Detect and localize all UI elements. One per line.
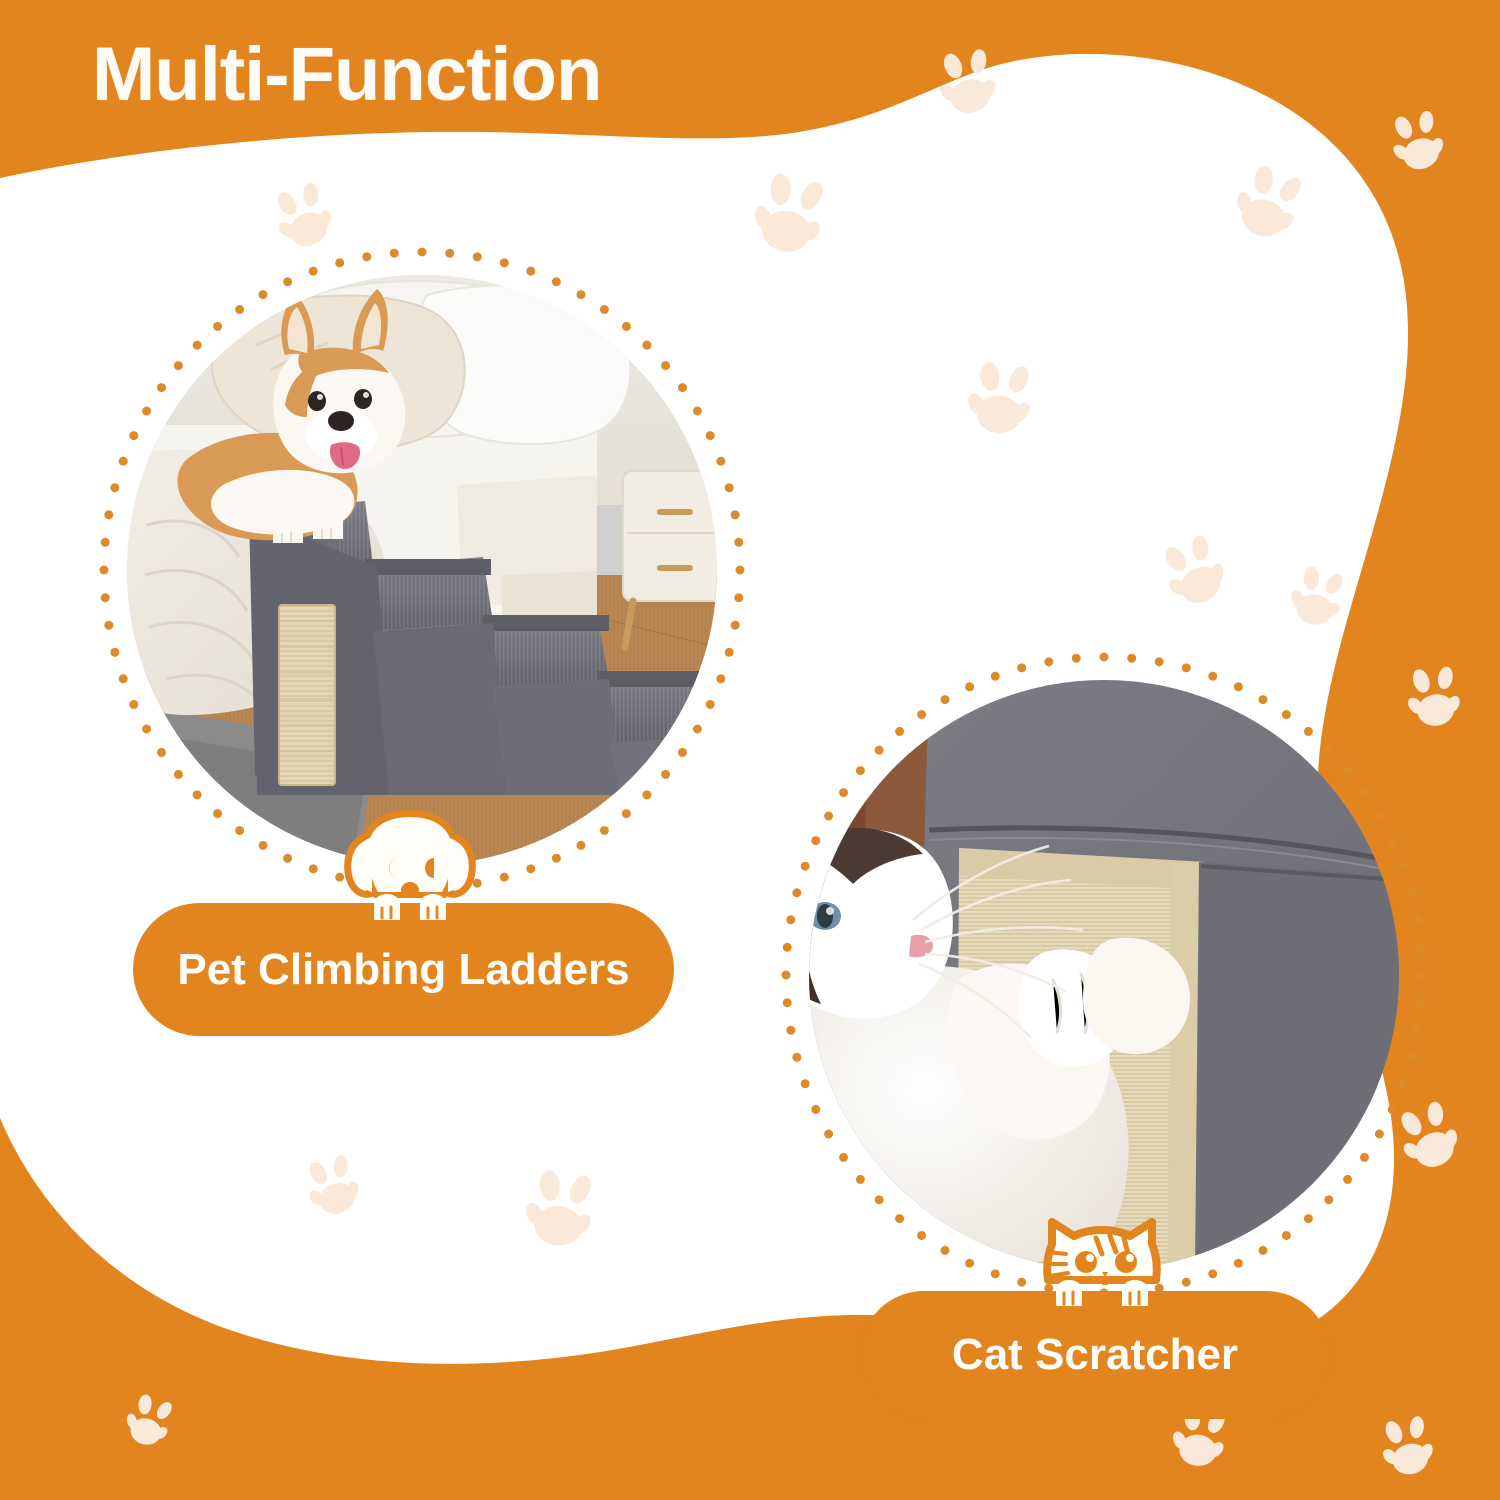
ring-dot [895,727,904,736]
ring-dot [622,322,631,331]
ring-dot [731,510,740,519]
photo-cat-scratcher [809,680,1399,1270]
ring-dot [500,258,509,267]
ring-dot [577,290,586,299]
ring-dot [792,1053,801,1062]
page-title: Multi-Function [92,33,601,117]
ring-dot [839,788,848,797]
ring-dot [801,862,810,871]
ring-dot [792,888,801,897]
ring-dot [1282,1231,1291,1240]
ring-dot [811,836,820,845]
ring-dot [119,674,128,683]
ring-dot [1388,1105,1397,1114]
ring-dot [642,790,651,799]
ring-dot [157,383,166,392]
ring-dot [335,258,344,267]
ring-dot [1304,727,1313,736]
ring-dot [1398,862,1407,871]
ring-dot [1324,746,1333,755]
ring-dot [1182,1278,1191,1287]
ring-dot [1208,672,1217,681]
ring-dot [716,674,725,683]
ring-dot [157,748,166,757]
ring-dot [991,1269,1000,1278]
ring-dot [600,305,609,314]
ring-dot [678,383,687,392]
ring-dot [991,672,1000,681]
ring-dot [856,1175,865,1184]
ring-dot [142,407,151,416]
ring-dot [526,267,535,276]
ring-dot [642,341,651,350]
ring-dot [1375,1130,1384,1139]
ring-dot [1259,695,1268,704]
ring-dot [193,790,202,799]
paw-print-icon [1223,157,1312,249]
ring-dot [824,812,833,821]
ring-dot [1234,682,1243,691]
ring-dot [1259,1246,1268,1255]
ring-dot [1017,663,1026,672]
ring-dot [526,864,535,873]
paw-print-icon [1374,1412,1439,1480]
ring-dot [693,725,702,734]
ring-dot [1182,663,1191,672]
ring-dot [174,361,183,370]
ring-dot [875,1195,884,1204]
ring-dot [965,1259,974,1268]
ring-dot [129,700,138,709]
ring-dot [1416,998,1425,1007]
ring-dot [213,809,222,818]
paw-print-icon [298,1150,367,1222]
ring-dot [1407,888,1416,897]
ring-dot [706,700,715,709]
ring-dot [1398,1079,1407,1088]
ring-dot [678,748,687,757]
ring-dot [362,252,371,261]
ring-dot [259,290,268,299]
ring-dot [941,1246,950,1255]
ring-dot [786,915,795,924]
ring-dot [661,770,670,779]
ring-dot [1388,836,1397,845]
ring-dot [110,648,119,657]
ring-dot [1418,971,1427,980]
ring-dot [129,431,138,440]
ring-dot [309,267,318,276]
ring-dot [706,431,715,440]
ring-dot [283,277,292,286]
ring-dot [1416,943,1425,952]
ring-dot [1413,915,1422,924]
paw-print-icon [1384,107,1451,177]
paw-print-icon [517,1164,602,1253]
ring-dot [552,277,561,286]
ring-dot [736,566,745,575]
dog-scene-illustration [127,275,717,865]
ring-dot [390,249,399,258]
ring-dot [782,971,791,980]
ring-dot [1343,1175,1352,1184]
ring-dot [917,1231,926,1240]
ring-dot [839,1153,848,1162]
ring-dot [1044,657,1053,666]
ring-dot [500,873,509,882]
ring-dot [1100,653,1109,662]
ring-dot [693,407,702,416]
ring-dot [734,538,743,547]
ring-dot [213,322,222,331]
ring-dot [941,695,950,704]
ring-dot [445,249,454,258]
dog-face-icon [330,808,490,936]
ring-dot [1360,1153,1369,1162]
ring-dot [101,593,110,602]
ring-dot [110,483,119,492]
ring-dot [1324,1195,1333,1204]
ring-dot [142,725,151,734]
ring-dot [259,841,268,850]
label-text-cat-scratcher: Cat Scratcher [952,1330,1238,1380]
ring-dot [1343,766,1352,775]
ring-dot [1155,657,1164,666]
paw-print-icon [932,45,1002,119]
ring-dot [473,252,482,261]
ring-dot [119,457,128,466]
ring-dot [552,854,561,863]
ring-dot [1282,710,1291,719]
ring-dot [1234,1259,1243,1268]
ring-dot [731,621,740,630]
label-text-pet-climbing-ladders: Pet Climbing Ladders [177,945,629,995]
ring-dot [104,621,113,630]
cat-face-icon [1022,1192,1182,1320]
ring-dot [1407,1053,1416,1062]
ring-dot [725,648,734,657]
ring-dot [875,746,884,755]
ring-dot [783,943,792,952]
ring-dot [811,1105,820,1114]
paw-print-icon [961,357,1040,440]
ring-dot [856,766,865,775]
ring-dot [235,305,244,314]
ring-dot [622,809,631,818]
cat-scene-illustration [809,680,1399,1270]
ring-dot [801,1079,810,1088]
ring-dot [917,710,926,719]
ring-dot [783,998,792,1007]
ring-dot [309,864,318,873]
paw-print-icon [1282,560,1352,633]
ring-dot [716,457,725,466]
photo-pet-climbing-ladders [127,275,717,865]
ring-dot [734,593,743,602]
ring-dot [418,248,427,257]
ring-dot [1072,654,1081,663]
ring-dot [100,566,109,575]
paw-print-icon [117,1388,180,1453]
ring-dot [1413,1026,1422,1035]
infographic-canvas: Pet Climbing Ladders [0,0,1500,1500]
ring-dot [1208,1269,1217,1278]
ring-dot [101,538,110,547]
ring-dot [725,483,734,492]
ring-dot [104,510,113,519]
ring-dot [1375,812,1384,821]
ring-dot [283,854,292,863]
ring-dot [600,826,609,835]
ring-dot [193,341,202,350]
ring-dot [235,826,244,835]
ring-dot [661,361,670,370]
ring-dot [1360,788,1369,797]
paw-print-icon [1152,529,1236,615]
ring-dot [895,1214,904,1223]
ring-dot [1304,1214,1313,1223]
ring-dot [1127,654,1136,663]
ring-dot [786,1026,795,1035]
ring-dot [824,1130,833,1139]
ring-dot [174,770,183,779]
ring-dot [577,841,586,850]
ring-dot [965,682,974,691]
panel-pet-climbing-ladders [95,243,749,897]
paw-print-icon [743,166,835,262]
